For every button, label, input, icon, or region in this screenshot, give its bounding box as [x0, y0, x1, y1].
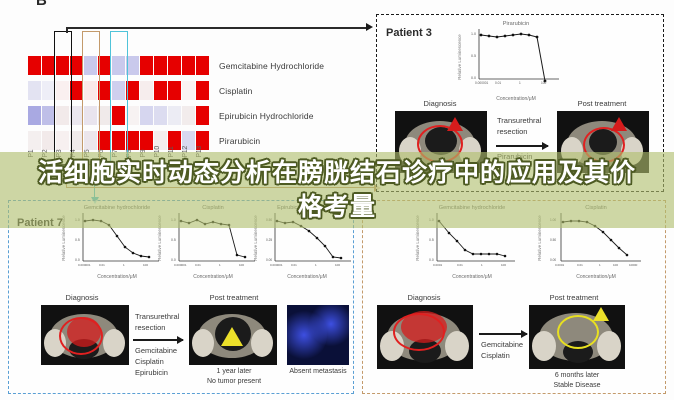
svg-text:100: 100	[143, 263, 148, 267]
chart-pirarubicin-p3: Pirarubicin Relative Luminescence Concen…	[461, 21, 571, 93]
heatmap-row: Gemcitabine Hydrochloride	[28, 56, 324, 75]
svg-text:0.0: 0.0	[171, 258, 176, 262]
svg-text:0.25: 0.25	[266, 238, 272, 242]
svg-text:1.0: 1.0	[471, 32, 476, 36]
heatmap-cell[interactable]	[140, 56, 153, 75]
svg-text:100: 100	[541, 81, 547, 85]
outcome-p7: 1 year later No tumor present	[187, 367, 281, 387]
caption-post-treatment: Post treatment	[555, 99, 649, 108]
outcome-line: Stable Disease	[527, 381, 627, 391]
svg-text:0.01: 0.01	[195, 263, 201, 267]
svg-text:0.5: 0.5	[171, 238, 176, 242]
highlight-p7[interactable]	[110, 31, 128, 165]
lesion-marker-icon	[611, 117, 627, 131]
heatmap-cell[interactable]	[154, 81, 167, 100]
chart-xlabel: Concentration/μM	[97, 274, 137, 280]
caption-diagnosis-p5: Diagnosis	[377, 293, 471, 302]
svg-text:100: 100	[613, 263, 618, 267]
svg-text:0.0: 0.0	[75, 258, 80, 262]
stable-disease-marker-icon	[593, 307, 609, 321]
chart-xlabel: Concentration/μM	[287, 274, 327, 280]
heatmap-cell[interactable]	[28, 81, 41, 100]
drug-sensitivity-heatmap: Gemcitabine HydrochlorideCisplatinEpirub…	[28, 56, 324, 156]
svg-text:1: 1	[123, 263, 125, 267]
arm-line: resection	[135, 322, 179, 333]
svg-text:1: 1	[315, 263, 317, 267]
panel-letter: B	[36, 0, 47, 9]
heatmap-row: Epirubicin Hydrochloride	[28, 106, 324, 125]
svg-text:0.01: 0.01	[495, 81, 501, 85]
heatmap-cell[interactable]	[154, 106, 167, 125]
svg-text:0.50: 0.50	[550, 238, 556, 242]
svg-text:1: 1	[481, 263, 483, 267]
svg-text:0.0: 0.0	[471, 76, 476, 80]
heatmap-cell[interactable]	[196, 81, 209, 100]
svg-text:0.000001: 0.000001	[475, 81, 489, 85]
caption-diagnosis: Diagnosis	[393, 99, 487, 108]
treatment-arrow-p5	[479, 333, 527, 335]
svg-text:1: 1	[519, 81, 521, 85]
svg-text:0.00: 0.00	[550, 258, 556, 262]
panel-patient-7: Patient 7 Gemcitabine hydrochloride Rela…	[8, 200, 354, 394]
chart-xlabel: Concentration/μM	[452, 274, 492, 280]
treatment-drugs-p7: Gemcitabine Cisplatin Epirubicin	[135, 345, 177, 378]
arm-line: Transurethral	[135, 311, 179, 322]
heatmap-cell[interactable]	[168, 56, 181, 75]
svg-text:0.01: 0.01	[577, 263, 583, 267]
ct-scan-post-p5	[529, 305, 625, 369]
svg-text:100: 100	[335, 263, 340, 267]
figure-canvas: B Gemcitabine HydrochlorideCisplatinEpir…	[0, 0, 674, 400]
heatmap-cell[interactable]	[182, 56, 195, 75]
outcome-line: 1 year later	[187, 367, 281, 377]
outcome-p5: 6 months later Stable Disease	[527, 371, 627, 391]
heatmap-cell[interactable]	[140, 106, 153, 125]
panel-patient-3-title: Patient 3	[386, 27, 432, 39]
connector-p3-horizontal	[66, 27, 368, 29]
heatmap-row-label: Epirubicin Hydrochloride	[219, 111, 314, 121]
treatment-arm-p3: Transurethral resection	[497, 115, 541, 137]
treatment-arm-p7: Transurethral resection	[135, 311, 179, 333]
heatmap-cell[interactable]	[182, 81, 195, 100]
svg-text:0.0001: 0.0001	[433, 263, 443, 267]
lesion-marker-icon	[447, 117, 463, 131]
svg-text:0.01: 0.01	[99, 263, 105, 267]
heatmap-row-label: Gemcitabine Hydrochloride	[219, 61, 324, 71]
heatmap-cell[interactable]	[182, 106, 195, 125]
chart-title: Pirarubicin	[503, 21, 529, 27]
heatmap-row-label: Pirarubicin	[219, 136, 260, 146]
outcome-line: No tumor present	[187, 377, 281, 387]
heatmap-cell[interactable]	[168, 81, 181, 100]
treatment-arrow-p7	[133, 339, 183, 341]
heatmap-cell[interactable]	[28, 56, 41, 75]
svg-text:10000: 10000	[629, 263, 638, 267]
treatment-arrow-p3	[496, 145, 548, 147]
connector-p3-arrowhead	[366, 23, 373, 31]
heatmap-cell[interactable]	[168, 106, 181, 125]
heatmap-cell[interactable]	[196, 56, 209, 75]
ct-scan-post-p7	[189, 305, 277, 365]
arm-line: Gemcitabine	[135, 345, 177, 356]
chart-xlabel: Concentration/μM	[496, 96, 536, 102]
svg-text:0.000001: 0.000001	[78, 263, 91, 267]
caption-post-treatment-p5: Post treatment	[527, 293, 621, 302]
outcome-line: 6 months later	[527, 371, 627, 381]
chart-plot: 1.0 0.5 0.0 0.000001 0.01 1 100	[469, 29, 561, 85]
arm-line: Cisplatin	[135, 356, 177, 367]
arm-line: Epirubicin	[135, 367, 177, 378]
arm-line: Cisplatin	[481, 350, 523, 361]
treatment-arm-p5: Gemcitabine Cisplatin	[481, 339, 523, 361]
svg-text:1: 1	[219, 263, 221, 267]
svg-text:0.5: 0.5	[429, 238, 434, 242]
no-tumor-marker-icon	[221, 327, 243, 346]
arm-line: Gemcitabine	[481, 339, 523, 350]
arm-line: Transurethral	[497, 115, 541, 126]
overlay-title: 活细胞实时动态分析在膀胱结石诊疗中的应用及其价格考量	[37, 156, 637, 224]
title-overlay-band: 活细胞实时动态分析在膀胱结石诊疗中的应用及其价格考量	[0, 152, 674, 228]
svg-text:0.01: 0.01	[457, 263, 463, 267]
panel-patient-5: Gemcitabine hydrochloride Relative Lumin…	[362, 200, 666, 394]
svg-text:0.0001: 0.0001	[555, 263, 565, 267]
metastasis-image-p7	[287, 305, 349, 365]
heatmap-cell[interactable]	[28, 106, 41, 125]
chart-xlabel: Concentration/μM	[576, 274, 616, 280]
heatmap-row: Cisplatin	[28, 81, 324, 100]
ct-scan-diagnosis-p5	[377, 305, 473, 369]
chart-xlabel: Concentration/μM	[193, 274, 233, 280]
svg-text:0.5: 0.5	[75, 238, 80, 242]
svg-text:100: 100	[501, 263, 506, 267]
heatmap-cell[interactable]	[196, 106, 209, 125]
highlight-p5[interactable]	[82, 31, 100, 165]
svg-text:0.5: 0.5	[471, 54, 476, 58]
svg-text:0.000001: 0.000001	[270, 263, 283, 267]
chart-ylabel: Relative Luminescence	[457, 34, 462, 79]
caption-post-treatment-p7: Post treatment	[187, 293, 281, 302]
highlight-p3[interactable]	[54, 31, 72, 165]
connector-p3-vertical	[66, 27, 68, 33]
heatmap-cell[interactable]	[154, 56, 167, 75]
caption-diagnosis-p7: Diagnosis	[35, 293, 129, 302]
svg-text:1: 1	[599, 263, 601, 267]
svg-text:0.0: 0.0	[429, 258, 434, 262]
svg-text:0.000001: 0.000001	[174, 263, 187, 267]
svg-text:0.00: 0.00	[266, 258, 272, 262]
caption-metastasis-p7: Absent metastasis	[283, 367, 353, 377]
svg-text:100: 100	[239, 263, 244, 267]
heatmap-row-label: Cisplatin	[219, 86, 253, 96]
ct-scan-diagnosis-p7	[41, 305, 129, 365]
arm-line: resection	[497, 126, 541, 137]
svg-text:0.01: 0.01	[291, 263, 297, 267]
heatmap-cell[interactable]	[140, 81, 153, 100]
